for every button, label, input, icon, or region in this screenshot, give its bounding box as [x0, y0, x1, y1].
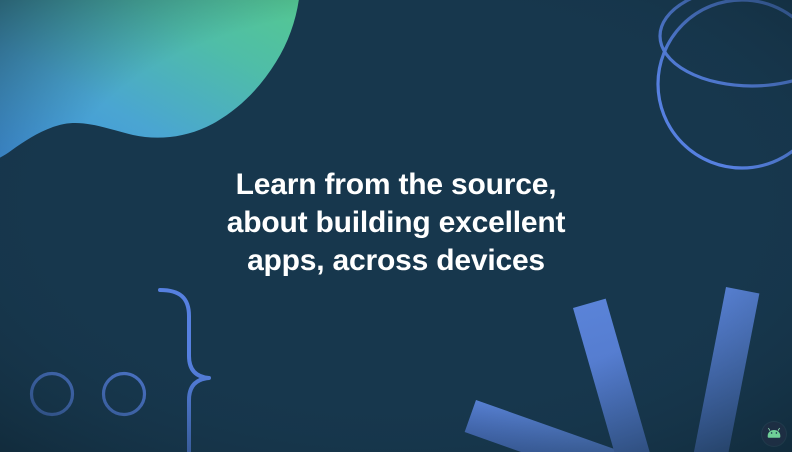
android-robot-icon — [765, 425, 783, 443]
android-logo-badge — [762, 422, 786, 446]
video-frame: Learn from the source, about building ex… — [0, 0, 792, 452]
decorative-background — [0, 0, 792, 452]
vignette-overlay — [0, 0, 792, 452]
